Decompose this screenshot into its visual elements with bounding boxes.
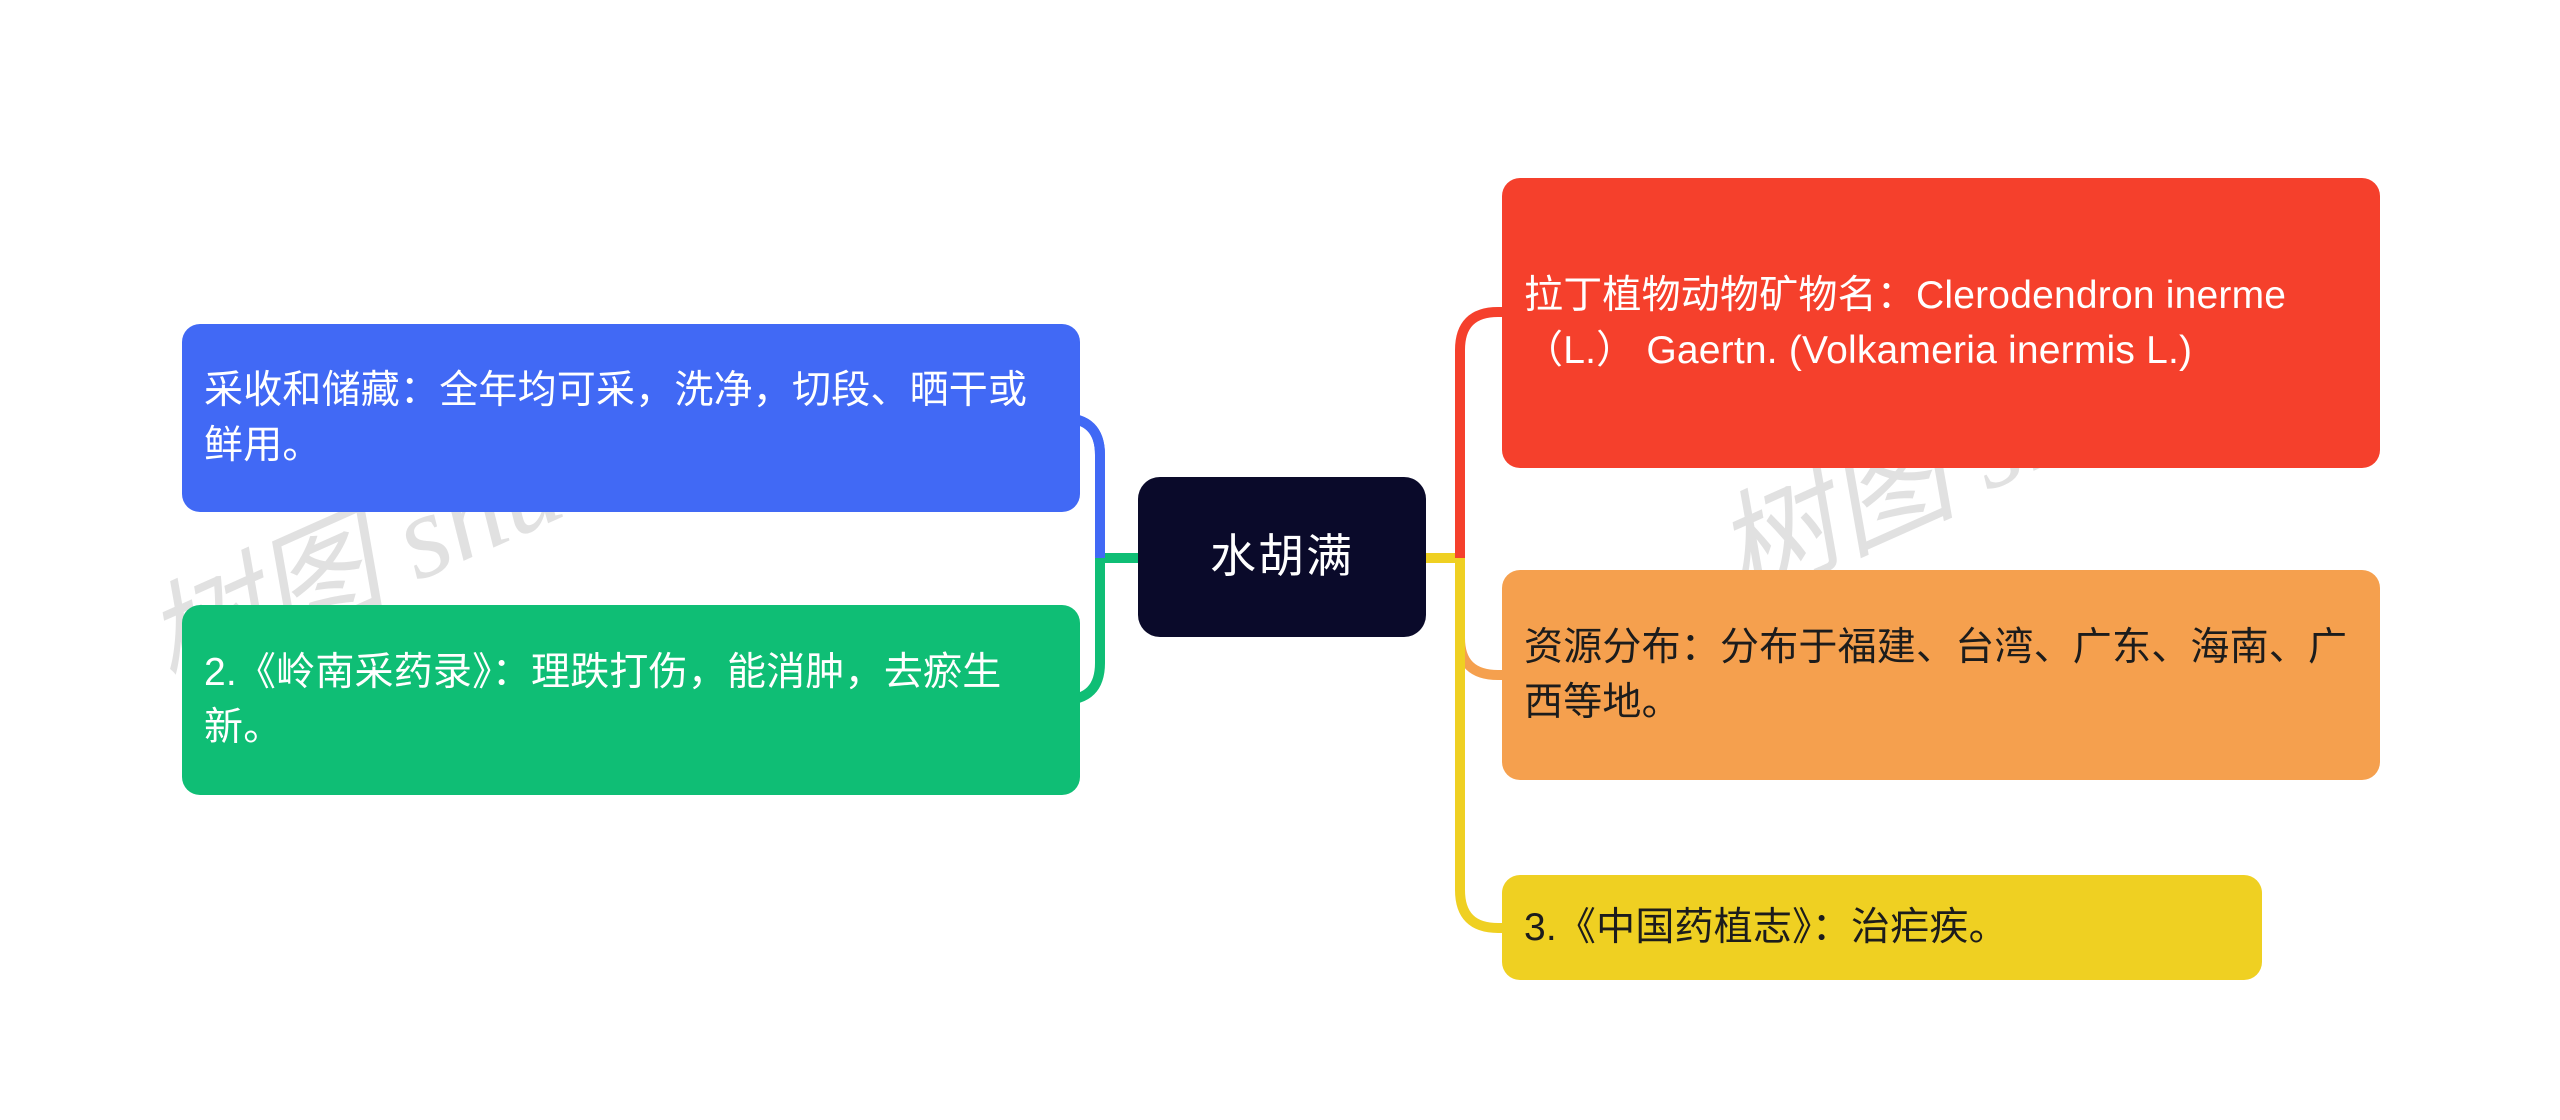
node-zhongguo-yaozhi[interactable]: 3.《中国药植志》：治疟疾。 (1502, 875, 2262, 980)
node-resource-distribution[interactable]: 资源分布：分布于福建、台湾、广东、海南、广西等地。 (1502, 570, 2380, 780)
node-harvest-storage-label: 采收和储藏：全年均可采，洗净，切段、晒干或鲜用。 (204, 363, 1058, 474)
root-node[interactable]: 水胡满 (1138, 477, 1426, 637)
node-resource-distribution-label: 资源分布：分布于福建、台湾、广东、海南、广西等地。 (1524, 620, 2358, 731)
node-lingnan-record-label: 2.《岭南采药录》：理跌打伤，能消肿，去瘀生新。 (204, 645, 1058, 756)
node-zhongguo-yaozhi-label: 3.《中国药植志》：治疟疾。 (1524, 900, 2240, 955)
mindmap-canvas: 树图 shutu.cn 树图 shutu.cn 水胡满 采收和储藏：全年均可采，… (0, 0, 2560, 1120)
node-harvest-storage[interactable]: 采收和储藏：全年均可采，洗净，切段、晒干或鲜用。 (182, 324, 1080, 512)
node-latin-name-label: 拉丁植物动物矿物名：Clerodendron inerme （L.） Gaert… (1524, 268, 2358, 379)
node-latin-name[interactable]: 拉丁植物动物矿物名：Clerodendron inerme （L.） Gaert… (1502, 178, 2380, 468)
node-lingnan-record[interactable]: 2.《岭南采药录》：理跌打伤，能消肿，去瘀生新。 (182, 605, 1080, 795)
connector-to-zhongguo (1460, 558, 1502, 928)
root-node-label: 水胡满 (1138, 524, 1426, 589)
connector-to-latin (1460, 312, 1502, 558)
connector-to-distribution (1460, 558, 1502, 675)
